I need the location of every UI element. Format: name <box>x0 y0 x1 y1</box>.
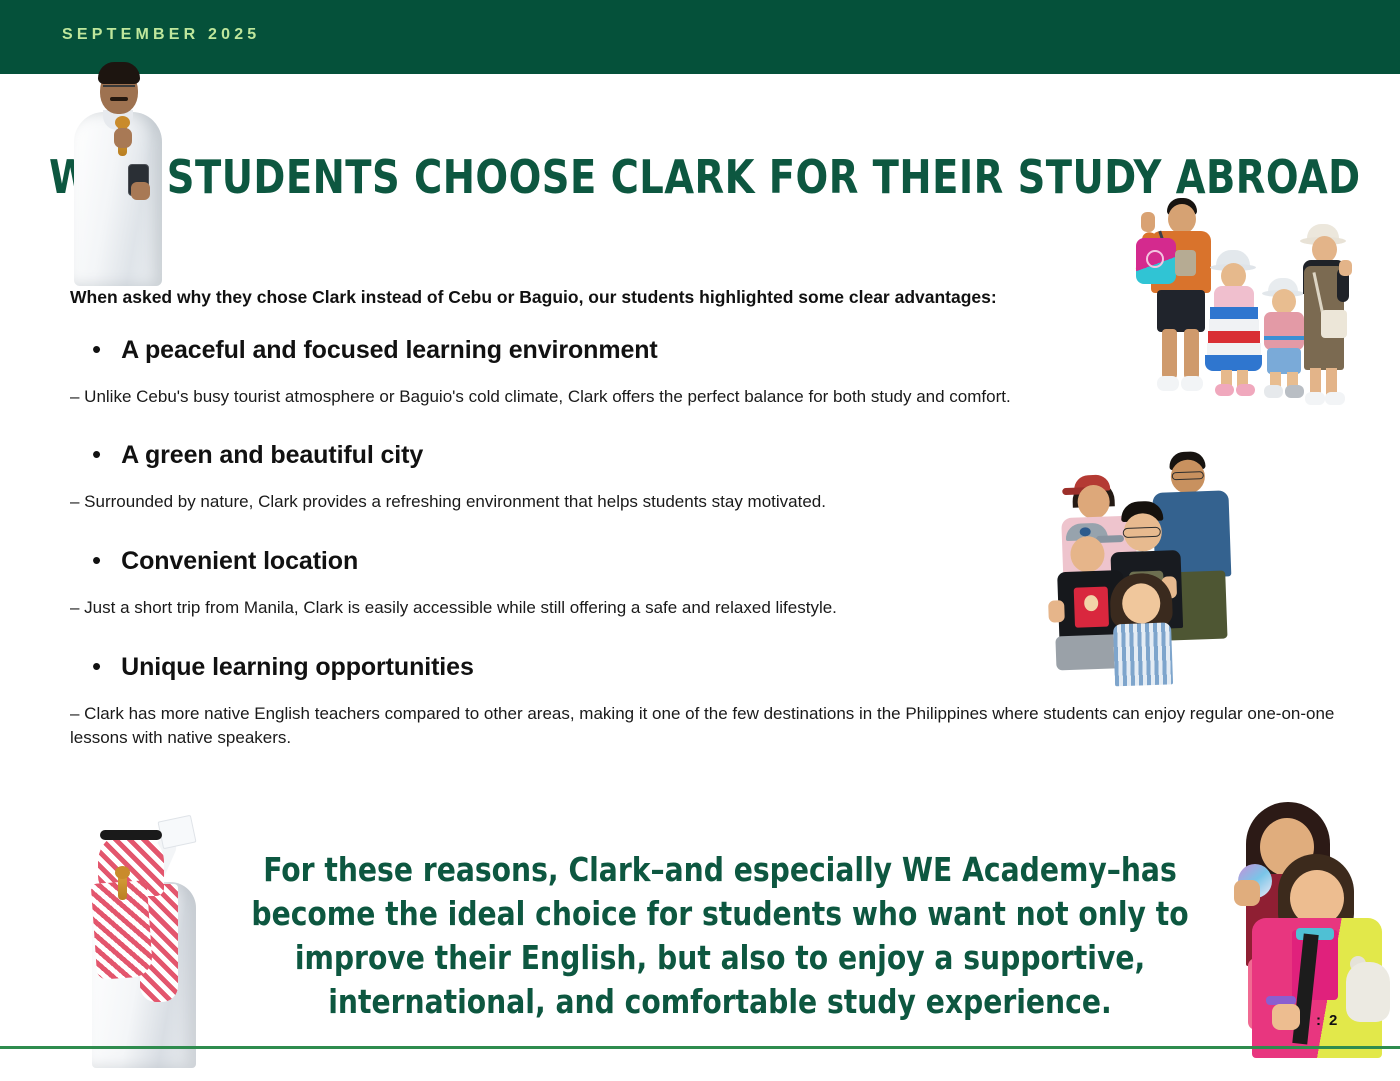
header-bar: SEPTEMBER 2025 <box>0 0 1400 74</box>
mother-figure <box>1293 224 1355 414</box>
photo-man-with-microphone <box>72 60 164 286</box>
hand-holding-mic <box>114 128 132 148</box>
shoe <box>1236 384 1255 396</box>
bullet-dot-icon: • <box>92 653 101 679</box>
advantage-heading: Convenient location <box>121 547 358 576</box>
shoe <box>1215 384 1234 396</box>
peace-sign-hand <box>1048 600 1065 623</box>
moustache <box>110 97 128 101</box>
dress-stripe <box>1205 355 1262 371</box>
shoe <box>1264 385 1283 398</box>
peace-sign-hand <box>1339 260 1352 276</box>
peace-sign-hand <box>1141 212 1155 232</box>
microphone-head <box>115 866 130 879</box>
face <box>1312 236 1337 263</box>
pink-backpack <box>1136 238 1176 284</box>
young-girl-front <box>1107 572 1181 690</box>
photo-family-of-five <box>1041 441 1264 693</box>
shorts <box>1157 290 1205 332</box>
page-separator: : <box>1316 1012 1322 1029</box>
face <box>1070 536 1105 573</box>
shoe <box>1157 376 1179 391</box>
crossbody-bag <box>1321 310 1347 338</box>
girl-in-striped-dress <box>1205 250 1263 402</box>
advantage-heading: A green and beautiful city <box>121 441 423 470</box>
page-number-value: 2 <box>1329 1012 1338 1029</box>
striped-dress <box>1113 622 1173 686</box>
glasses-icon <box>103 85 135 92</box>
closing-statement: For these reasons, Clark–and especially … <box>217 848 1224 1024</box>
dress-top <box>1214 286 1254 308</box>
shoe <box>1325 392 1345 405</box>
bullet-dot-icon: • <box>92 547 101 573</box>
advantage-heading: A peaceful and focused learning environm… <box>121 336 658 365</box>
shoe <box>1181 376 1203 391</box>
child-figure <box>1252 854 1400 1060</box>
bullet-dot-icon: • <box>92 441 101 467</box>
shoulder-pouch <box>1175 250 1196 276</box>
hand-holding-phone <box>131 182 150 200</box>
issue-date-label: SEPTEMBER 2025 <box>62 26 260 44</box>
footer-rule <box>0 1046 1400 1049</box>
paper-certificate <box>157 815 196 849</box>
advantage-description: – Clark has more native English teachers… <box>70 702 1335 751</box>
shoe <box>1305 392 1325 405</box>
photo-man-with-keffiyeh <box>64 818 224 1068</box>
leg <box>1162 329 1177 379</box>
photo-family-of-four <box>1135 196 1365 414</box>
photo-woman-and-child <box>1222 802 1400 1060</box>
leg <box>1184 329 1199 379</box>
glasses-icon <box>1172 471 1204 480</box>
bag-logo <box>1146 250 1164 268</box>
igal-cord <box>100 830 162 840</box>
bullet-dot-icon: • <box>92 336 101 362</box>
plush-toy <box>1346 962 1390 1022</box>
face <box>1168 204 1196 234</box>
hand <box>1272 1004 1300 1030</box>
hair <box>98 62 140 84</box>
advantage-heading: Unique learning opportunities <box>121 653 474 682</box>
page-number: :2 <box>1316 1012 1338 1029</box>
face <box>1077 484 1110 519</box>
